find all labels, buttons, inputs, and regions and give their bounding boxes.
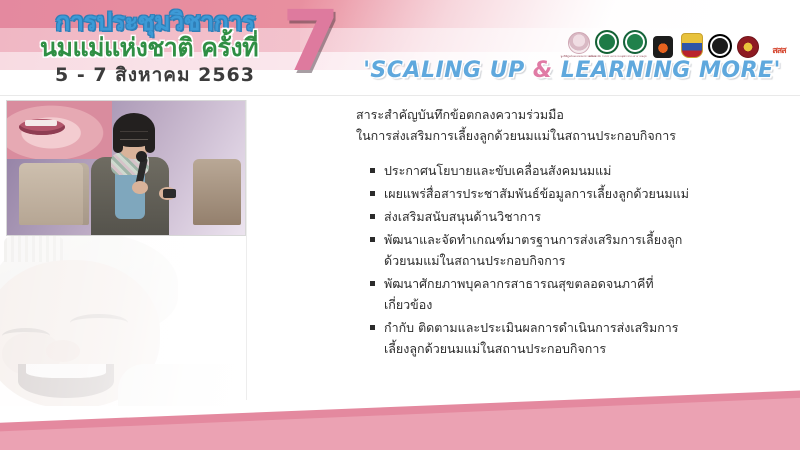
logo-thaihealth-sss: สสส: [764, 26, 794, 58]
backdrop-teeth-shape: [25, 120, 57, 126]
conference-title-block: การประชุมวิชาการ นมแม่แห่งชาติ ครั้งที่ …: [0, 0, 300, 96]
speaker-glasses: [120, 131, 148, 140]
conference-edition-number: 7: [281, 0, 341, 88]
bullet-line1: ส่งเสริมสนับสนุนด้านวิชาการ: [384, 209, 541, 224]
bullet-item: ประกาศนโยบายและขับเคลื่อนสังคมนมแม่: [370, 160, 772, 181]
logo-royal-patronage: มูลนิธิศูนย์นมแม่แห่งประเทศไทย: [566, 26, 591, 58]
bullet-line2: ด้วยนมแม่ในสถานประกอบกิจการ: [384, 250, 772, 271]
logo-ministry-of-education: [707, 26, 732, 58]
logo-ministry-of-social-development: [736, 26, 761, 58]
logo-department-of-health: กระทรวงสาธารณสุข: [623, 26, 648, 58]
tagline-ampersand: &: [533, 58, 553, 83]
slide-content: สาระสำคัญบันทึกข้อตกลงความร่วมมือ ในการส…: [352, 104, 772, 361]
bullet-item: ส่งเสริมสนับสนุนด้านวิชาการ: [370, 206, 772, 227]
logo-ministry-of-social-development-icon: [737, 36, 759, 58]
presentation-clicker: [163, 189, 176, 198]
logo-ministry-of-public-health-icon: [595, 30, 619, 54]
bullet-line2: เลี้ยงลูกด้วยนมแม่ในสถานประกอบกิจการ: [384, 338, 772, 359]
speaker-video-feed: [6, 100, 246, 236]
content-heading: สาระสำคัญบันทึกข้อตกลงความร่วมมือ ในการส…: [356, 104, 772, 146]
column-divider: [246, 100, 247, 400]
content-bullet-list: ประกาศนโยบายและขับเคลื่อนสังคมนมแม่ เผยแ…: [352, 160, 772, 359]
bullet-line1: กำกับ ติดตามและประเมินผลการดำเนินการส่งเ…: [384, 320, 679, 335]
content-heading-line2: ในการส่งเสริมการเลี้ยงลูกด้วยนมแม่ในสถาน…: [356, 125, 772, 146]
logo-ministry-of-public-health: กรมอนามัย กระทรวงสาธารณสุข: [594, 26, 619, 58]
bullet-line1: ประกาศนโยบายและขับเคลื่อนสังคมนมแม่: [384, 163, 611, 178]
conference-date: 5 - 7 สิงหาคม 2563: [30, 60, 280, 90]
logo-thaihealth-sss-icon: สสส: [764, 42, 794, 58]
bullet-item: พัฒนาและจัดทำเกณฑ์มาตรฐานการส่งเสริมการเ…: [370, 229, 772, 271]
microphone-head: [136, 151, 147, 162]
bullet-line1: พัฒนาศักยภาพบุคลากรสาธารณสุขตลอดจนภาคีที…: [384, 276, 654, 291]
bottom-pink-wedge: [0, 388, 800, 450]
photo-fade-gradient: [0, 236, 246, 406]
logo-ministry-of-interior-icon: [653, 36, 673, 58]
bullet-item: เผยแพร่สื่อสารประชาสัมพันธ์ข้อมูลการเลี้…: [370, 183, 772, 204]
logo-ministry-of-education-icon: [708, 34, 732, 58]
bullet-line1: เผยแพร่สื่อสารประชาสัมพันธ์ข้อมูลการเลี้…: [384, 186, 689, 201]
conference-tagline: 'SCALING UP & LEARNING MORE': [352, 58, 792, 88]
content-heading-line1: สาระสำคัญบันทึกข้อตกลงความร่วมมือ: [356, 104, 772, 125]
logo-department-of-health-icon: [623, 30, 647, 54]
presentation-slide: การประชุมวิชาการ นมแม่แห่งชาติ ครั้งที่ …: [0, 0, 800, 450]
backdrop-screen-image: [7, 101, 112, 159]
sponsor-logo-strip: มูลนิธิศูนย์นมแม่แห่งประเทศไทย กรมอนามัย…: [566, 24, 794, 58]
logo-ministry-of-interior: [651, 26, 676, 58]
chair-left: [19, 163, 89, 225]
tagline-part-post: LEARNING MORE': [553, 58, 781, 83]
speaker-hand-left: [132, 181, 148, 194]
bullet-item: พัฒนาศักยภาพบุคลากรสาธารณสุขตลอดจนภาคีที…: [370, 273, 772, 315]
logo-royal-patronage-icon: [568, 32, 590, 54]
bullet-item: กำกับ ติดตามและประเมินผลการดำเนินการส่งเ…: [370, 317, 772, 359]
logo-ministry-of-labour-icon: [681, 33, 703, 58]
chair-right: [193, 159, 241, 225]
child-photo: [0, 236, 246, 406]
tagline-part-pre: 'SCALING UP: [363, 58, 533, 83]
logo-ministry-of-labour: [679, 26, 704, 58]
bullet-line2: เกี่ยวข้อง: [384, 294, 772, 315]
bullet-line1: พัฒนาและจัดทำเกณฑ์มาตรฐานการส่งเสริมการเ…: [384, 232, 682, 247]
